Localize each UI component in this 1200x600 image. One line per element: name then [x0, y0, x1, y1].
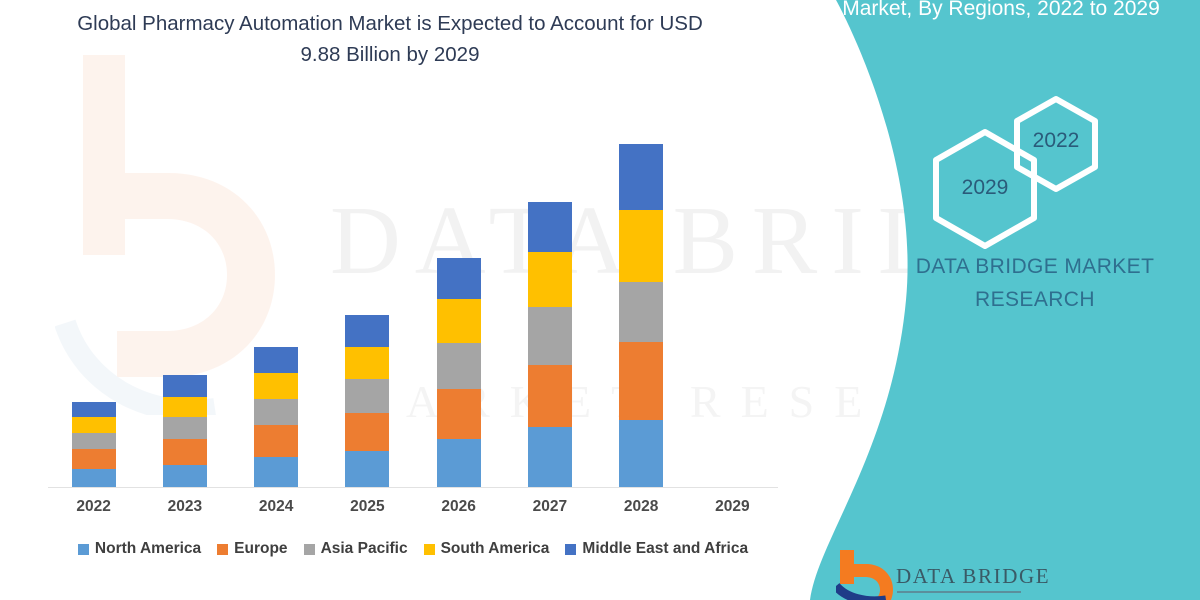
chart-legend: North AmericaEuropeAsia PacificSouth Ame…	[48, 540, 778, 558]
bar-segment[interactable]	[437, 299, 481, 343]
bar-segment[interactable]	[345, 347, 389, 379]
x-axis-tick-label: 2023	[139, 498, 230, 516]
stacked-bar[interactable]	[254, 347, 298, 487]
dbmr-logo-text: DATA BRIDGE	[896, 564, 1050, 589]
bar-segment[interactable]	[345, 413, 389, 451]
bar-segment[interactable]	[345, 315, 389, 347]
bar-segment[interactable]	[163, 439, 207, 465]
bar-segment[interactable]	[72, 433, 116, 449]
bar-segment[interactable]	[619, 210, 663, 282]
stacked-bar[interactable]	[437, 258, 481, 487]
stacked-bar[interactable]	[619, 144, 663, 487]
bar-segment[interactable]	[619, 144, 663, 210]
hexagon-2022-label: 2022	[1012, 129, 1100, 153]
bar-segment[interactable]	[437, 343, 481, 389]
brand-name: DATA BRIDGE MARKET RESEARCH	[885, 250, 1185, 316]
legend-item[interactable]: South America	[424, 540, 550, 558]
x-axis-tick-label: 2022	[48, 498, 139, 516]
bar-segment[interactable]	[72, 469, 116, 487]
panel-title: Market, By Regions, 2022 to 2029	[836, 0, 1166, 24]
x-axis-tick-label: 2029	[687, 498, 778, 516]
bar-slot	[413, 95, 504, 487]
stacked-bar[interactable]	[528, 202, 572, 487]
bar-slot	[48, 95, 139, 487]
bar-group-container	[48, 95, 778, 487]
stacked-bar[interactable]	[345, 315, 389, 487]
legend-swatch-icon	[565, 544, 576, 555]
legend-label: Middle East and Africa	[582, 540, 748, 558]
x-axis-tick-label: 2027	[504, 498, 595, 516]
x-axis-line	[48, 487, 778, 488]
chart-title: Global Pharmacy Automation Market is Exp…	[60, 8, 720, 70]
bar-slot	[322, 95, 413, 487]
bar-segment[interactable]	[437, 258, 481, 299]
x-axis-labels: 20222023202420252026202720282029	[48, 498, 778, 516]
bar-segment[interactable]	[345, 379, 389, 413]
bar-slot	[139, 95, 230, 487]
stacked-bar[interactable]	[163, 375, 207, 487]
legend-item[interactable]: Asia Pacific	[304, 540, 408, 558]
bar-slot	[596, 95, 687, 487]
bar-segment[interactable]	[163, 375, 207, 397]
bar-slot	[504, 95, 595, 487]
legend-item[interactable]: Europe	[217, 540, 287, 558]
bar-segment[interactable]	[345, 451, 389, 487]
bar-segment[interactable]	[437, 439, 481, 487]
dbmr-logo-underline	[897, 591, 1021, 593]
legend-item[interactable]: North America	[78, 540, 201, 558]
legend-item[interactable]: Middle East and Africa	[565, 540, 748, 558]
bar-segment[interactable]	[72, 402, 116, 417]
bar-segment[interactable]	[528, 202, 572, 252]
legend-label: Europe	[234, 540, 287, 558]
legend-label: North America	[95, 540, 201, 558]
bar-segment[interactable]	[163, 397, 207, 417]
bar-segment[interactable]	[72, 417, 116, 433]
x-axis-tick-label: 2026	[413, 498, 504, 516]
bar-segment[interactable]	[254, 373, 298, 399]
bar-slot	[687, 95, 778, 487]
hexagon-2022: 2022	[1012, 95, 1100, 198]
bar-segment[interactable]	[528, 365, 572, 427]
bar-segment[interactable]	[254, 399, 298, 425]
chart-plot-area	[48, 95, 778, 487]
bar-segment[interactable]	[254, 347, 298, 373]
legend-label: South America	[441, 540, 550, 558]
bar-segment[interactable]	[528, 307, 572, 365]
legend-swatch-icon	[424, 544, 435, 555]
bar-segment[interactable]	[619, 342, 663, 420]
dbmr-logo-icon	[836, 550, 900, 600]
bar-segment[interactable]	[437, 389, 481, 439]
bar-segment[interactable]	[163, 465, 207, 487]
legend-swatch-icon	[78, 544, 89, 555]
bar-slot	[231, 95, 322, 487]
legend-swatch-icon	[217, 544, 228, 555]
stacked-bar[interactable]	[72, 402, 116, 487]
x-axis-tick-label: 2028	[596, 498, 687, 516]
bar-segment[interactable]	[528, 427, 572, 487]
bar-segment[interactable]	[528, 252, 572, 307]
bar-segment[interactable]	[619, 420, 663, 487]
legend-label: Asia Pacific	[321, 540, 408, 558]
bar-segment[interactable]	[163, 417, 207, 439]
bar-segment[interactable]	[72, 449, 116, 469]
x-axis-tick-label: 2025	[322, 498, 413, 516]
bar-segment[interactable]	[619, 282, 663, 342]
x-axis-tick-label: 2024	[231, 498, 322, 516]
legend-swatch-icon	[304, 544, 315, 555]
bar-segment[interactable]	[254, 425, 298, 457]
bar-segment[interactable]	[254, 457, 298, 487]
